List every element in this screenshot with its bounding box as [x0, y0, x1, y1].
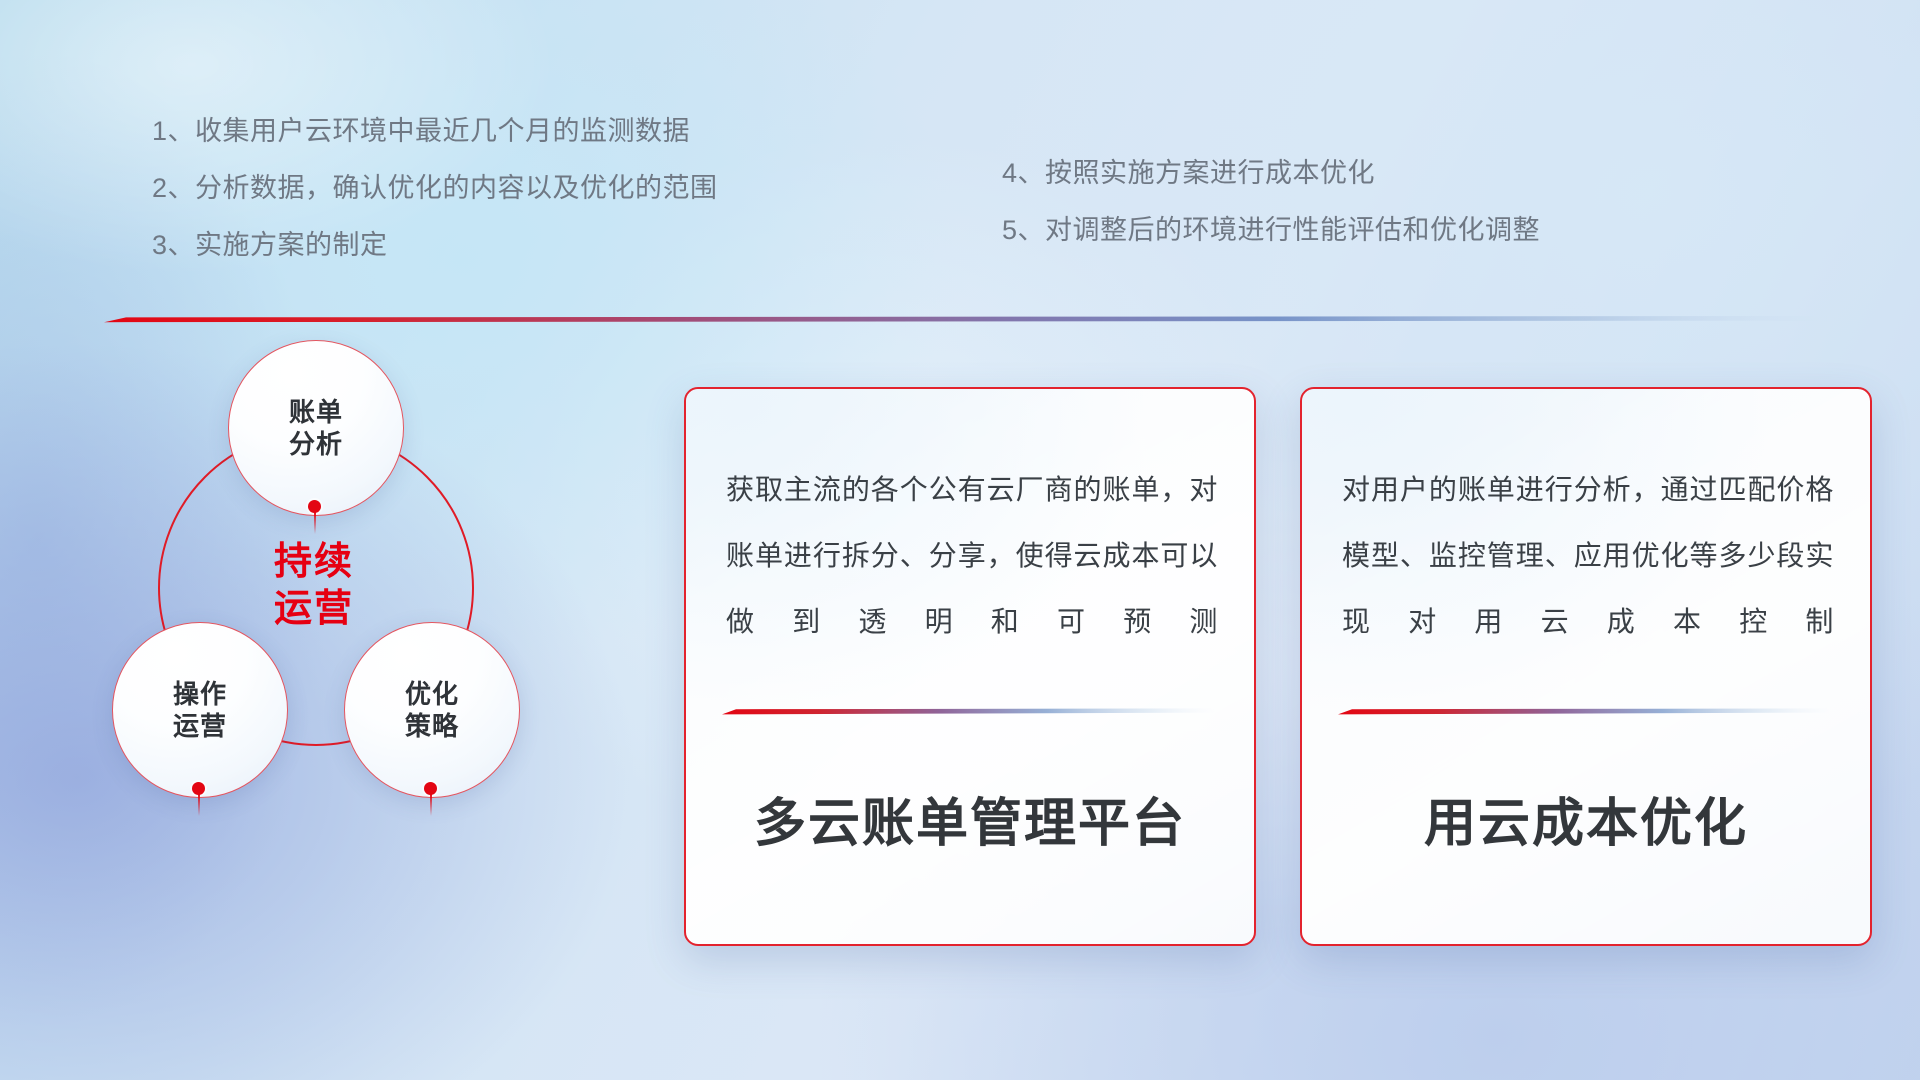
venn-diagram: 持续 运营 账单 分析 操作 运营 优化 策略 [90, 340, 650, 960]
steps-left-column: 1、收集用户云环境中最近几个月的监测数据 2、分析数据，确认优化的内容以及优化的… [152, 118, 718, 259]
venn-lobe-operations-line-1: 操作 [173, 678, 227, 711]
venn-lobe-operations-line-2: 运营 [173, 710, 227, 743]
step-item-3: 3、实施方案的制定 [152, 232, 718, 259]
card-2-accent-rule [1338, 707, 1830, 715]
ring-label-line-2: 运营 [274, 586, 354, 634]
step-item-4: 4、按照实施方案进行成本优化 [1002, 160, 1540, 187]
card-1-description: 获取主流的各个公有云厂商的账单，对账单进行拆分、分享，使得云成本可以做到透明和可… [726, 457, 1218, 654]
venn-lobe-billing-analysis[interactable]: 账单 分析 [228, 340, 404, 516]
venn-lobe-billing-label: 账单 分析 [289, 396, 343, 461]
step-item-1: 1、收集用户云环境中最近几个月的监测数据 [152, 118, 718, 145]
slide-canvas: 1、收集用户云环境中最近几个月的监测数据 2、分析数据，确认优化的内容以及优化的… [0, 0, 1920, 1080]
card-2-description: 对用户的账单进行分析，通过匹配价格模型、监控管理、应用优化等多少段实现对用云成本… [1342, 457, 1834, 654]
card-multi-cloud-billing-platform[interactable]: 获取主流的各个公有云厂商的账单，对账单进行拆分、分享，使得云成本可以做到透明和可… [684, 387, 1256, 946]
card-1-title: 多云账单管理平台 [686, 781, 1254, 856]
step-item-5: 5、对调整后的环境进行性能评估和优化调整 [1002, 217, 1540, 244]
venn-lobe-billing-line-1: 账单 [289, 396, 343, 429]
venn-node-tail-operations [198, 794, 200, 816]
venn-lobe-policy-line-1: 优化 [405, 678, 459, 711]
venn-lobe-operations[interactable]: 操作 运营 [112, 622, 288, 798]
card-1-accent-rule [722, 707, 1214, 715]
steps-right-column: 4、按照实施方案进行成本优化 5、对调整后的环境进行性能评估和优化调整 [1002, 160, 1540, 244]
card-cloud-cost-optimization[interactable]: 对用户的账单进行分析，通过匹配价格模型、监控管理、应用优化等多少段实现对用云成本… [1300, 387, 1872, 946]
step-item-2: 2、分析数据，确认优化的内容以及优化的范围 [152, 175, 718, 202]
venn-lobe-billing-line-2: 分析 [289, 428, 343, 461]
venn-node-tail-policy [430, 794, 432, 816]
ring-label-line-1: 持续 [274, 539, 354, 587]
venn-lobe-optimization-policy[interactable]: 优化 策略 [344, 622, 520, 798]
section-divider [104, 314, 1828, 323]
venn-lobe-policy-label: 优化 策略 [405, 678, 459, 743]
card-2-title: 用云成本优化 [1302, 781, 1870, 856]
venn-node-tail-billing [314, 512, 316, 534]
venn-lobe-operations-label: 操作 运营 [173, 678, 227, 743]
venn-lobe-policy-line-2: 策略 [405, 710, 459, 743]
